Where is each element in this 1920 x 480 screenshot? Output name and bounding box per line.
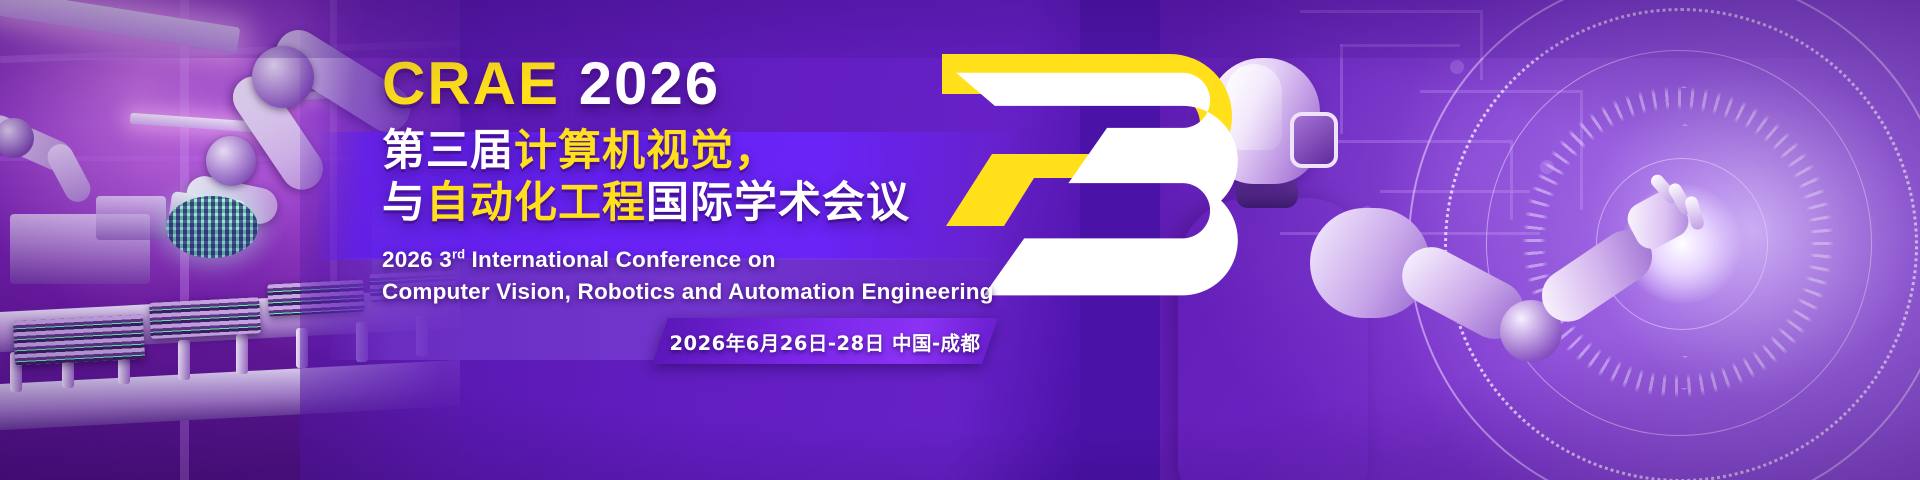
conference-banner: CRAE 2026 第三届计算机视觉， 与自动化工程国际学术会议 2026 3r… bbox=[0, 0, 1920, 480]
chinese-line1-white: 第三届 bbox=[382, 126, 514, 176]
title-acronym: CRAE bbox=[382, 50, 560, 117]
factory-machine bbox=[96, 196, 166, 240]
ordinal-suffix: rd bbox=[452, 246, 465, 261]
english-subtitle-line-2: Computer Vision, Robotics and Automation… bbox=[382, 276, 982, 308]
chinese-line2-yellow: 自动化工程 bbox=[426, 178, 646, 228]
secondary-robot-arm bbox=[43, 140, 95, 207]
title-year: 2026 bbox=[579, 50, 720, 117]
conveyor-roller bbox=[236, 334, 248, 374]
english-subtitle-line-1: 2026 3rd International Conference on bbox=[382, 244, 982, 276]
chinese-line2-white-a: 与 bbox=[382, 178, 426, 228]
silicon-wafer bbox=[166, 196, 258, 258]
chinese-title-line-1: 第三届计算机视觉， bbox=[382, 125, 982, 177]
humanoid-robot-photo bbox=[1160, 0, 1920, 480]
chinese-line1-yellow: 计算机视觉， bbox=[514, 126, 778, 176]
english-line1-pre: 2026 3 bbox=[382, 247, 452, 272]
english-line1-post: International Conference on bbox=[465, 247, 776, 272]
robot-eye-icon bbox=[1290, 112, 1338, 168]
wafer-tray-stack bbox=[149, 297, 261, 339]
wafer-tray-stack bbox=[13, 315, 145, 366]
conveyor-roller bbox=[178, 340, 190, 380]
stylized-numeral-3-logo bbox=[940, 36, 1270, 366]
robot-joint bbox=[206, 136, 256, 186]
page-title: CRAE 2026 bbox=[382, 52, 982, 115]
chinese-title-line-2: 与自动化工程国际学术会议 bbox=[382, 177, 982, 229]
english-subtitle-block: 2026 3rd International Conference on Com… bbox=[382, 244, 982, 308]
banner-text-block: CRAE 2026 第三届计算机视觉， 与自动化工程国际学术会议 2026 3r… bbox=[382, 52, 982, 308]
date-location-text: 2026年6月26日-28日 中国-成都 bbox=[660, 318, 990, 364]
chinese-line2-white-b: 国际学术会议 bbox=[646, 178, 910, 228]
